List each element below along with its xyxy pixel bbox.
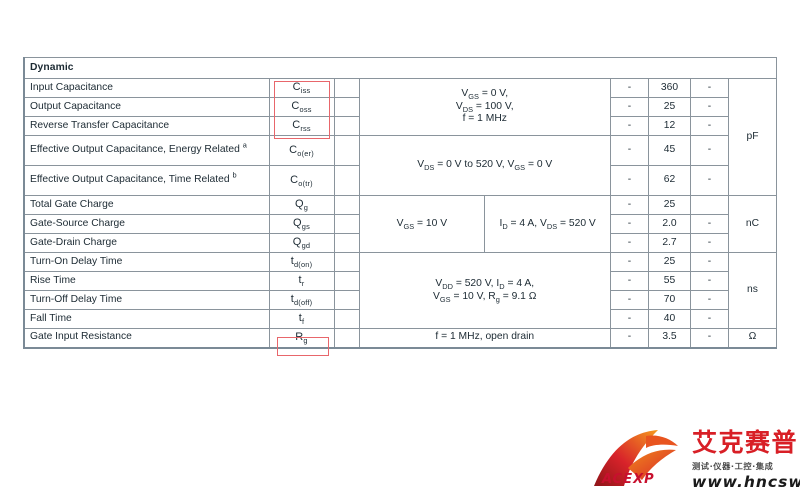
- watermark: ACEXP 艾克赛普 测试·仪器·工控·集成 www.hncsw.net: [588, 424, 796, 494]
- section-header-row: Dynamic: [24, 58, 777, 79]
- value-max: -: [691, 272, 729, 291]
- parameter-name: Effective Output Capacitance, Energy Rel…: [24, 136, 269, 166]
- footnote-marker: a: [243, 141, 247, 150]
- parameter-symbol: Qg: [269, 196, 334, 215]
- parameter-symbol: Co(er): [269, 136, 334, 166]
- table-row: Gate Input Resistance Rg f = 1 MHz, open…: [24, 329, 777, 348]
- parameter-name: Turn-On Delay Time: [24, 253, 269, 272]
- parameter-name: Gate Input Resistance: [24, 329, 269, 348]
- test-condition-switching: VDD = 520 V, ID = 4 A, VGS = 10 V, Rg = …: [359, 253, 611, 329]
- value-typ: 40: [649, 310, 691, 329]
- value-typ: 3.5: [649, 329, 691, 348]
- spacer-cell: [334, 291, 359, 310]
- value-max: -: [691, 253, 729, 272]
- parameter-symbol: Rg: [269, 329, 334, 348]
- value-typ: 25: [649, 196, 691, 215]
- spacer-cell: [334, 136, 359, 166]
- value-typ: 2.7: [649, 234, 691, 253]
- value-typ: 62: [649, 166, 691, 196]
- spacer-cell: [334, 329, 359, 348]
- parameter-name: Effective Output Capacitance, Time Relat…: [24, 166, 269, 196]
- value-typ: 70: [649, 291, 691, 310]
- spacer-cell: [334, 117, 359, 136]
- value-max: -: [691, 117, 729, 136]
- spacer-cell: [334, 215, 359, 234]
- table-row: Input Capacitance Ciss VGS = 0 V, VDS = …: [24, 79, 777, 98]
- svg-text:ACEXP: ACEXP: [601, 472, 655, 487]
- spacer-cell: [334, 272, 359, 291]
- table-row: Total Gate Charge Qg VGS = 10 V ID = 4 A…: [24, 196, 777, 215]
- value-max: [691, 196, 729, 215]
- spacer-cell: [334, 166, 359, 196]
- value-max: -: [691, 166, 729, 196]
- spacer-cell: [334, 98, 359, 117]
- test-condition-capacitance: VGS = 0 V, VDS = 100 V, f = 1 MHz: [359, 79, 611, 136]
- value-max: -: [691, 98, 729, 117]
- dynamic-characteristics-table: Dynamic Input Capacitance Ciss VGS = 0 V…: [23, 57, 777, 349]
- value-max: -: [691, 136, 729, 166]
- spacer-cell: [334, 79, 359, 98]
- value-typ: 45: [649, 136, 691, 166]
- watermark-tagline: 测试·仪器·工控·集成: [692, 460, 798, 472]
- value-max: -: [691, 329, 729, 348]
- parameter-name: Input Capacitance: [24, 79, 269, 98]
- acexp-logo-icon: ACEXP: [588, 428, 700, 490]
- value-min: -: [611, 136, 649, 166]
- value-min: -: [611, 117, 649, 136]
- spacer-cell: [334, 253, 359, 272]
- value-min: -: [611, 166, 649, 196]
- unit-capacitance: pF: [729, 79, 777, 196]
- parameter-symbol: Coss: [269, 98, 334, 117]
- value-min: -: [611, 79, 649, 98]
- value-typ: 25: [649, 98, 691, 117]
- parameter-symbol: Co(tr): [269, 166, 334, 196]
- value-min: -: [611, 291, 649, 310]
- parameter-symbol: tr: [269, 272, 334, 291]
- watermark-brand: 艾克赛普: [692, 430, 798, 455]
- parameter-name: Gate-Drain Charge: [24, 234, 269, 253]
- unit-resistance: Ω: [729, 329, 777, 348]
- test-condition-gate-charge: ID = 4 A, VDS = 520 V: [485, 196, 611, 253]
- value-min: -: [611, 196, 649, 215]
- datasheet-page: Dynamic Input Capacitance Ciss VGS = 0 V…: [0, 0, 800, 497]
- value-typ: 2.0: [649, 215, 691, 234]
- value-min: -: [611, 98, 649, 117]
- value-typ: 12: [649, 117, 691, 136]
- value-min: -: [611, 329, 649, 348]
- parameter-symbol: Qgd: [269, 234, 334, 253]
- table-row: Turn-On Delay Time td(on) VDD = 520 V, I…: [24, 253, 777, 272]
- parameter-name: Turn-Off Delay Time: [24, 291, 269, 310]
- unit-charge: nC: [729, 196, 777, 253]
- unit-time: ns: [729, 253, 777, 329]
- value-max: -: [691, 310, 729, 329]
- spacer-cell: [334, 234, 359, 253]
- value-typ: 360: [649, 79, 691, 98]
- parameter-name: Reverse Transfer Capacitance: [24, 117, 269, 136]
- parameter-symbol: Qgs: [269, 215, 334, 234]
- parameter-symbol: td(on): [269, 253, 334, 272]
- parameter-symbol: Ciss: [269, 79, 334, 98]
- value-max: -: [691, 215, 729, 234]
- spacer-cell: [334, 310, 359, 329]
- parameter-name: Output Capacitance: [24, 98, 269, 117]
- table-row: Effective Output Capacitance, Energy Rel…: [24, 136, 777, 166]
- value-typ: 55: [649, 272, 691, 291]
- parameter-name: Fall Time: [24, 310, 269, 329]
- section-title: Dynamic: [24, 58, 777, 79]
- test-condition-effective-capacitance: VDS = 0 V to 520 V, VGS = 0 V: [359, 136, 611, 196]
- test-condition-gate-voltage: VGS = 10 V: [359, 196, 485, 253]
- parameter-name: Total Gate Charge: [24, 196, 269, 215]
- value-max: -: [691, 79, 729, 98]
- value-min: -: [611, 253, 649, 272]
- value-min: -: [611, 310, 649, 329]
- parameter-symbol: Crss: [269, 117, 334, 136]
- value-max: -: [691, 234, 729, 253]
- spacer-cell: [334, 196, 359, 215]
- footnote-marker: b: [232, 171, 236, 180]
- parameter-name: Gate-Source Charge: [24, 215, 269, 234]
- value-min: -: [611, 215, 649, 234]
- value-typ: 25: [649, 253, 691, 272]
- test-condition-resistance: f = 1 MHz, open drain: [359, 329, 611, 348]
- parameter-symbol: td(off): [269, 291, 334, 310]
- watermark-url: www.hncsw.net: [692, 473, 798, 491]
- value-min: -: [611, 234, 649, 253]
- parameter-symbol: tf: [269, 310, 334, 329]
- value-min: -: [611, 272, 649, 291]
- value-max: -: [691, 291, 729, 310]
- parameter-name: Rise Time: [24, 272, 269, 291]
